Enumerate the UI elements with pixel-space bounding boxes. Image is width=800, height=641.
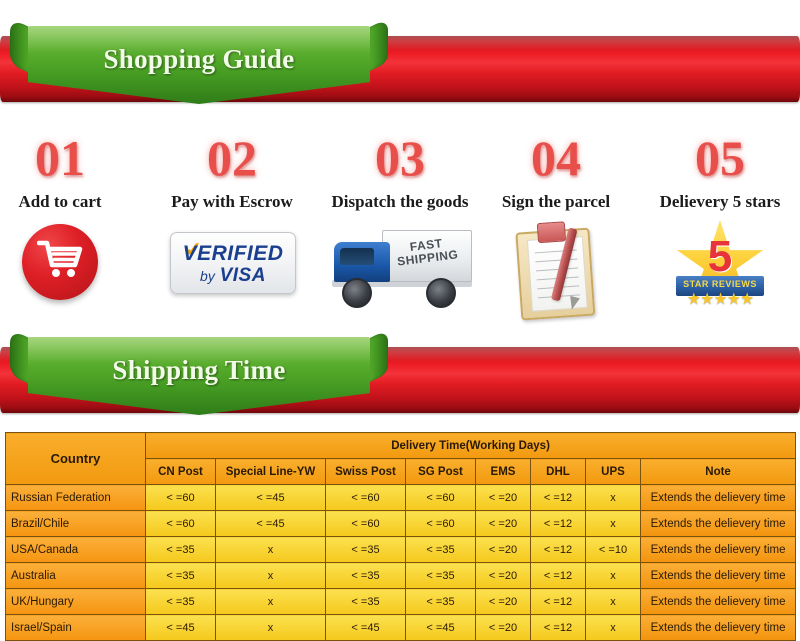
cell-cn-post: < =45 xyxy=(146,615,216,641)
clipboard-pen-icon xyxy=(476,220,636,316)
cell-swiss-post: < =60 xyxy=(326,511,406,537)
header-delivery-time-group: Delivery Time(Working Days) xyxy=(146,433,796,459)
visa-by-text: by xyxy=(200,268,215,284)
header-sg-post: SG Post xyxy=(406,459,476,485)
step-label: Add to cart xyxy=(0,192,140,212)
shipping-time-table: Country Delivery Time(Working Days) CN P… xyxy=(5,432,796,641)
cell-country: UK/Hungary xyxy=(6,589,146,615)
banner-green-ribbon: Shopping Guide xyxy=(10,26,388,110)
cell-dhl: < =12 xyxy=(531,511,586,537)
cell-ups: x xyxy=(586,615,641,641)
step-number: 04 xyxy=(476,130,636,186)
truck-window xyxy=(340,248,374,265)
table-row: Israel/Spain < =45 x < =45 < =45 < =20 <… xyxy=(6,615,796,641)
cell-ems: < =20 xyxy=(476,511,531,537)
cell-swiss-post: < =35 xyxy=(326,589,406,615)
shopping-guide-title: Shopping Guide xyxy=(28,44,370,75)
star-number: 5 xyxy=(670,234,770,280)
cell-sg-post: < =35 xyxy=(406,563,476,589)
cell-sg-post: < =60 xyxy=(406,511,476,537)
table-row: Russian Federation < =60 < =45 < =60 < =… xyxy=(6,485,796,511)
cell-special-line: x xyxy=(216,537,326,563)
cell-dhl: < =12 xyxy=(531,537,586,563)
star-ribbon-text: STAR REVIEWS xyxy=(676,279,764,289)
header-swiss-post: Swiss Post xyxy=(326,459,406,485)
header-cn-post: CN Post xyxy=(146,459,216,485)
cell-special-line: x xyxy=(216,563,326,589)
cell-country: Australia xyxy=(6,563,146,589)
truck-cargo-box: FAST SHIPPING xyxy=(382,230,472,282)
cell-ups: < =10 xyxy=(586,537,641,563)
cell-ems: < =20 xyxy=(476,537,531,563)
cell-note: Extends the delievery time xyxy=(641,537,796,563)
table-header-row-group: Country Delivery Time(Working Days) xyxy=(6,433,796,459)
cell-sg-post: < =60 xyxy=(406,485,476,511)
cell-sg-post: < =35 xyxy=(406,589,476,615)
cell-note: Extends the delievery time xyxy=(641,589,796,615)
cell-cn-post: < =35 xyxy=(146,537,216,563)
cell-special-line: < =45 xyxy=(216,485,326,511)
cell-swiss-post: < =60 xyxy=(326,485,406,511)
step-01: 01 Add to cart xyxy=(0,130,140,316)
step-number: 05 xyxy=(640,130,800,186)
mini-stars-icon: ★★★★★ xyxy=(676,292,764,308)
cell-dhl: < =12 xyxy=(531,485,586,511)
visa-verified-text: VERIFIED xyxy=(171,242,295,266)
cell-cn-post: < =60 xyxy=(146,511,216,537)
table-head: Country Delivery Time(Working Days) CN P… xyxy=(6,433,796,485)
header-dhl: DHL xyxy=(531,459,586,485)
cell-country: Israel/Spain xyxy=(6,615,146,641)
visa-brand-text: VISA xyxy=(220,265,266,286)
step-04: 04 Sign the parcel xyxy=(476,130,636,316)
header-special-line: Special Line-YW xyxy=(216,459,326,485)
cell-swiss-post: < =35 xyxy=(326,537,406,563)
banner-green-ribbon: Shipping Time xyxy=(10,337,388,421)
table-row: USA/Canada < =35 x < =35 < =35 < =20 < =… xyxy=(6,537,796,563)
cell-ems: < =20 xyxy=(476,615,531,641)
header-note: Note xyxy=(641,459,796,485)
cell-note: Extends the delievery time xyxy=(641,563,796,589)
cell-cn-post: < =60 xyxy=(146,485,216,511)
cell-ups: x xyxy=(586,485,641,511)
truck-wheel xyxy=(426,278,456,308)
cell-cn-post: < =35 xyxy=(146,589,216,615)
cell-ups: x xyxy=(586,511,641,537)
cell-swiss-post: < =35 xyxy=(326,563,406,589)
cell-swiss-post: < =45 xyxy=(326,615,406,641)
table-row: UK/Hungary < =35 x < =35 < =35 < =20 < =… xyxy=(6,589,796,615)
clipboard-clamp xyxy=(537,221,566,243)
step-number: 02 xyxy=(152,130,312,186)
cell-special-line: x xyxy=(216,589,326,615)
cell-note: Extends the delievery time xyxy=(641,485,796,511)
step-number: 01 xyxy=(0,130,140,186)
step-03: 03 Dispatch the goods FAST SHIPPING xyxy=(320,130,480,316)
cell-cn-post: < =35 xyxy=(146,563,216,589)
cell-country: USA/Canada xyxy=(6,537,146,563)
table-row: Australia < =35 x < =35 < =35 < =20 < =1… xyxy=(6,563,796,589)
header-country: Country xyxy=(6,433,146,485)
step-05: 05 Delievery 5 stars 5 STAR REVIEWS ★★★★… xyxy=(640,130,800,316)
step-label: Dispatch the goods xyxy=(320,192,480,212)
fast-shipping-truck-icon: FAST SHIPPING xyxy=(320,220,480,316)
header-ups: UPS xyxy=(586,459,641,485)
cell-dhl: < =12 xyxy=(531,615,586,641)
cell-ups: x xyxy=(586,563,641,589)
cell-dhl: < =12 xyxy=(531,563,586,589)
cell-ems: < =20 xyxy=(476,563,531,589)
shipping-time-banner: Shipping Time xyxy=(0,333,800,425)
cell-dhl: < =12 xyxy=(531,589,586,615)
cell-special-line: x xyxy=(216,615,326,641)
cell-note: Extends the delievery time xyxy=(641,511,796,537)
cell-ems: < =20 xyxy=(476,485,531,511)
step-label: Sign the parcel xyxy=(476,192,636,212)
truck-wheel xyxy=(342,278,372,308)
step-label: Delievery 5 stars xyxy=(640,192,800,212)
step-label: Pay with Escrow xyxy=(152,192,312,212)
cell-special-line: < =45 xyxy=(216,511,326,537)
cell-sg-post: < =35 xyxy=(406,537,476,563)
cell-ups: x xyxy=(586,589,641,615)
cell-ems: < =20 xyxy=(476,589,531,615)
shopping-steps: 01 Add to cart 02 Pay with Escrow ✓ VERI… xyxy=(0,130,800,330)
cell-country: Russian Federation xyxy=(6,485,146,511)
shopping-guide-banner: Shopping Guide xyxy=(0,22,800,114)
table-row: Brazil/Chile < =60 < =45 < =60 < =60 < =… xyxy=(6,511,796,537)
step-02: 02 Pay with Escrow ✓ VERIFIED by VISA xyxy=(152,130,312,316)
cell-note: Extends the delievery time xyxy=(641,615,796,641)
cell-country: Brazil/Chile xyxy=(6,511,146,537)
five-star-reviews-icon: 5 STAR REVIEWS ★★★★★ xyxy=(640,220,800,316)
header-ems: EMS xyxy=(476,459,531,485)
shipping-time-title: Shipping Time xyxy=(28,355,370,386)
cell-sg-post: < =45 xyxy=(406,615,476,641)
cart-glyph xyxy=(37,238,83,282)
verified-by-visa-icon: ✓ VERIFIED by VISA xyxy=(152,220,312,316)
table-body: Russian Federation < =60 < =45 < =60 < =… xyxy=(6,485,796,641)
step-number: 03 xyxy=(320,130,480,186)
shopping-cart-icon xyxy=(0,220,140,316)
